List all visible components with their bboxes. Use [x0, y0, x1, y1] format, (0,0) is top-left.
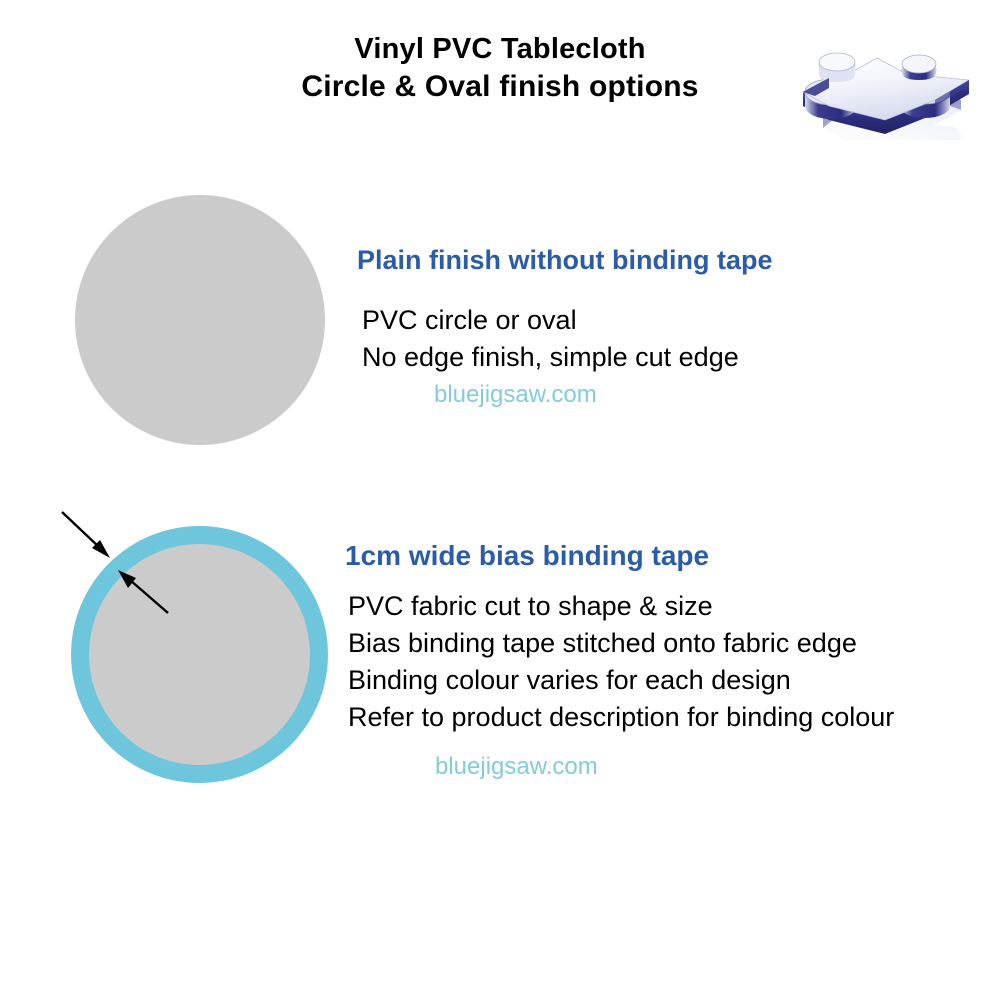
diagram-canvas: Vinyl PVC Tablecloth Circle & Oval finis…: [0, 0, 1000, 1000]
section-bias-binding: 1cm wide bias binding tape PVC fabric cu…: [345, 540, 985, 782]
plain-pvc-circle: [75, 195, 325, 445]
annotation-arrows: [40, 490, 240, 650]
bluejigsaw-puzzle-piece-logo: [785, 22, 985, 140]
section-plain-finish: Plain finish without binding tape PVC ci…: [357, 244, 977, 410]
list-item: PVC circle or oval: [362, 302, 977, 339]
section-lines-plain: PVC circle or oval No edge finish, simpl…: [357, 302, 977, 376]
list-item: Refer to product description for binding…: [348, 699, 985, 736]
list-item: PVC fabric cut to shape & size: [348, 588, 985, 625]
list-item: Binding colour varies for each design: [348, 662, 985, 699]
arrow-to-binding-tape: [62, 512, 110, 558]
section-lines-binding: PVC fabric cut to shape & size Bias bind…: [345, 588, 985, 736]
watermark-bluejigsaw-bottom: bluejigsaw.com: [345, 752, 985, 782]
watermark-bluejigsaw-top: bluejigsaw.com: [357, 380, 977, 410]
list-item: Bias binding tape stitched onto fabric e…: [348, 625, 985, 662]
section-heading-binding: 1cm wide bias binding tape: [345, 540, 985, 572]
arrow-to-pvc-fabric: [118, 570, 168, 613]
list-item: No edge finish, simple cut edge: [362, 339, 977, 376]
section-heading-plain: Plain finish without binding tape: [357, 244, 977, 276]
